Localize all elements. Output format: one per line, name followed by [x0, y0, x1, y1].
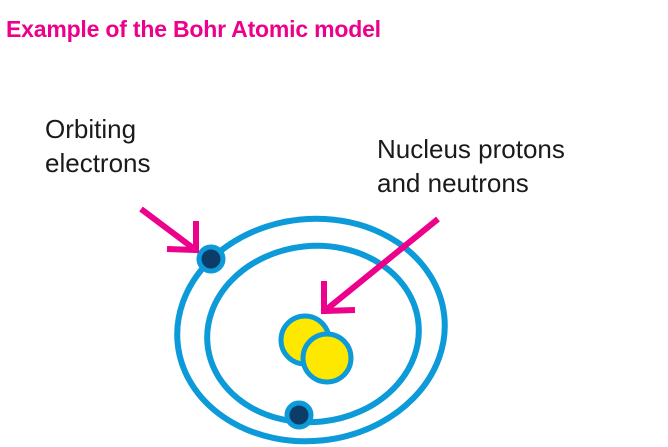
arrow-to-electron-icon — [141, 209, 196, 250]
atom-diagram-svg — [0, 0, 668, 447]
label-nucleus-protons-neutrons: Nucleus protons and neutrons — [377, 133, 565, 201]
label-orbiting-electrons: Orbiting electrons — [45, 113, 151, 181]
electron-upper-left — [199, 247, 223, 271]
electron-bottom — [287, 403, 311, 427]
nucleus-group — [281, 316, 351, 382]
nucleus-neutron-front — [303, 334, 351, 382]
bohr-atomic-model-figure: Example of the Bohr Atomic model — [0, 0, 668, 447]
